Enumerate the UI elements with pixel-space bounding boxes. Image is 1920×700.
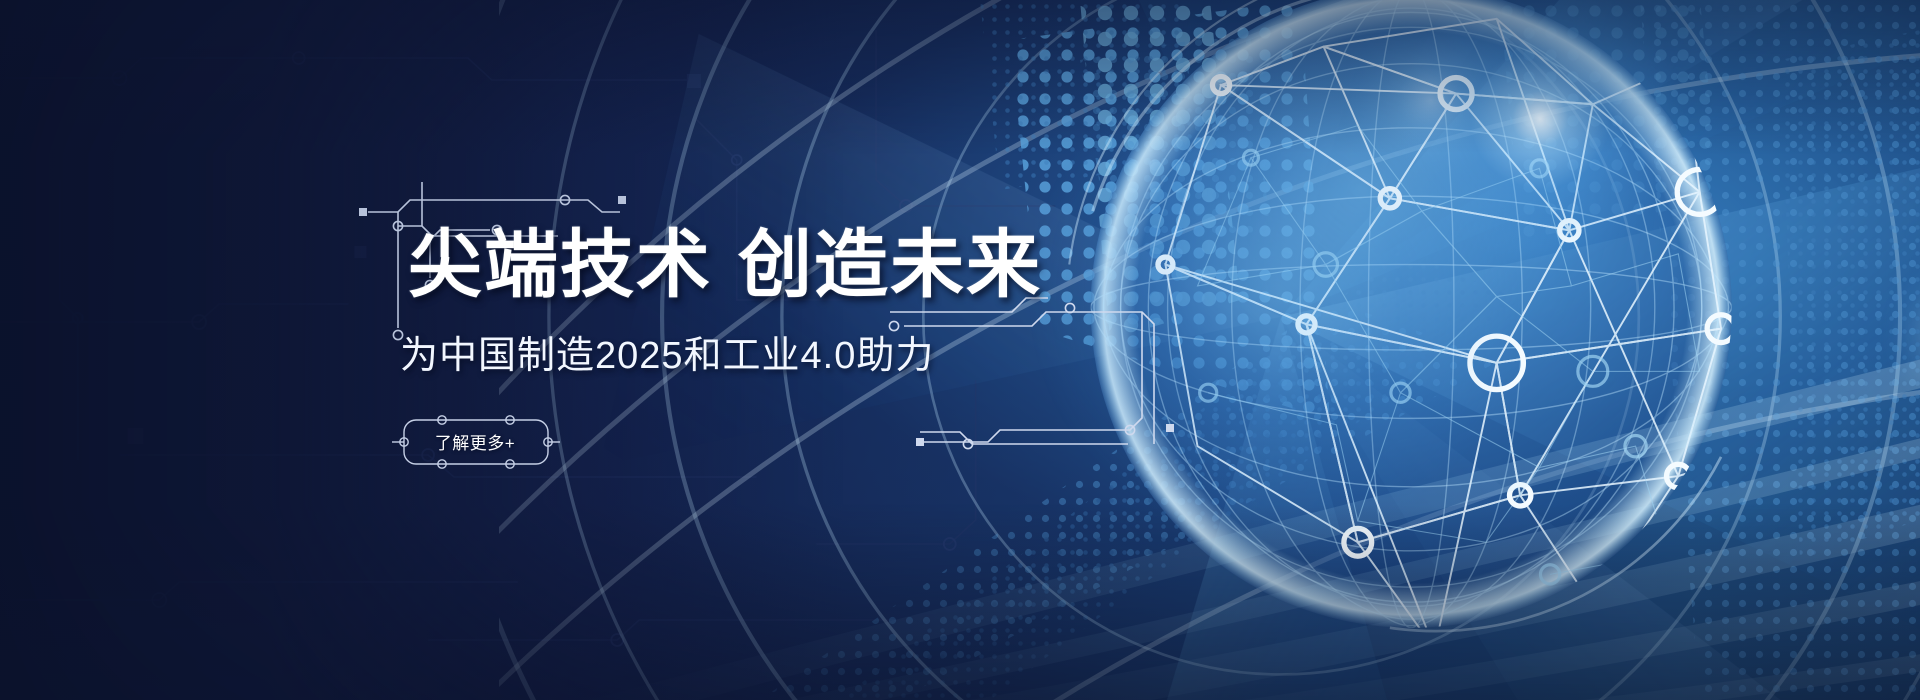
headline-phrase-1: 尖端技术 — [408, 223, 712, 306]
learn-more-button[interactable]: 了解更多+ — [400, 418, 550, 465]
page-subtitle: 为中国制造2025和工业4.0助力 — [400, 337, 934, 375]
cta-label: 了解更多+ — [435, 429, 515, 454]
headline-phrase-2: 创造未来 — [738, 223, 1042, 306]
hero-banner: 尖端技术创造未来 为中国制造2025和工业4.0助力 了解更多+ — [0, 0, 1920, 700]
page-title: 尖端技术创造未来 — [408, 228, 1042, 302]
